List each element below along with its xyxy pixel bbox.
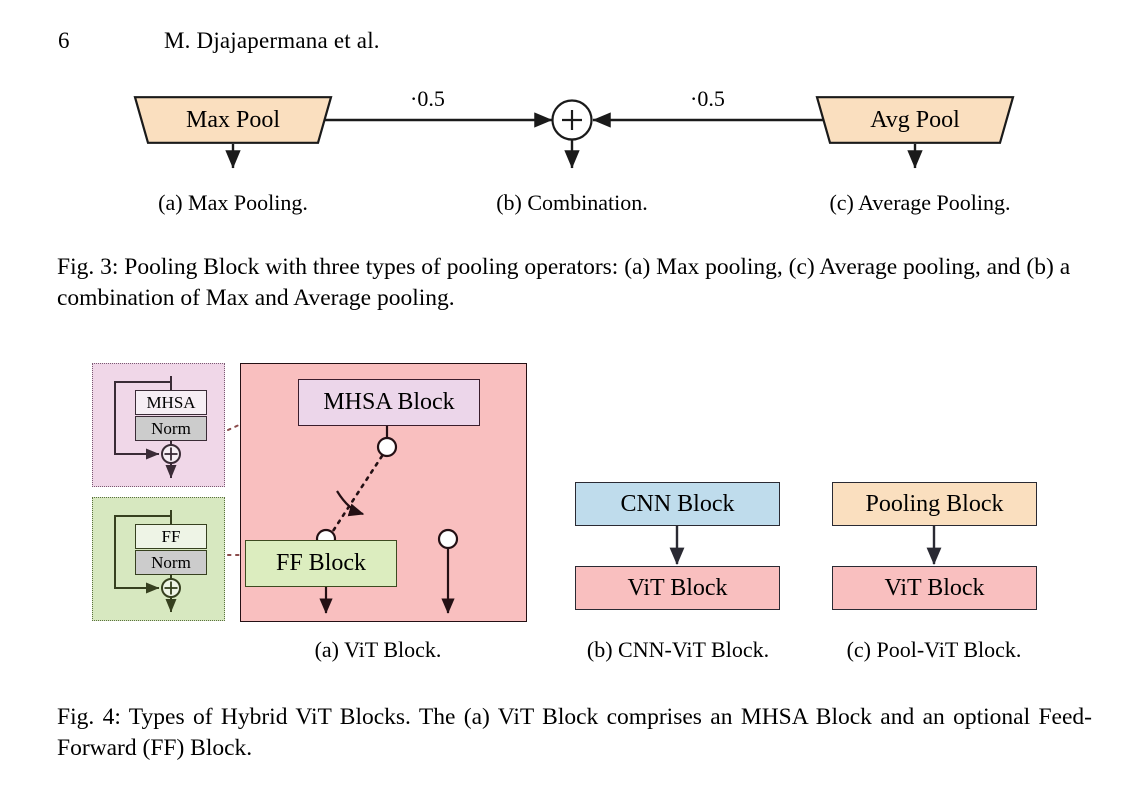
- edge-label-left: ·0.5: [410, 86, 445, 112]
- subcaption-average-pooling: (c) Average Pooling.: [795, 190, 1045, 216]
- mhsa-norm-box[interactable]: Norm: [135, 416, 207, 441]
- ff-operator-box[interactable]: FF: [135, 524, 207, 549]
- avg-pool-label: Avg Pool: [817, 96, 1013, 144]
- subcaption-combination: (b) Combination.: [472, 190, 672, 216]
- ff-norm-box[interactable]: Norm: [135, 550, 207, 575]
- mhsa-detail-panel: MHSA Norm: [92, 363, 225, 487]
- figure-4-caption: Fig. 4: Types of Hybrid ViT Blocks. The …: [57, 702, 1092, 764]
- subcaption-max-pooling: (a) Max Pooling.: [133, 190, 333, 216]
- subcaption-pool-vit-block: (c) Pool-ViT Block.: [812, 637, 1056, 663]
- edge-label-right: ·0.5: [690, 86, 725, 112]
- pool-vit-vit-block-node[interactable]: ViT Block: [832, 566, 1037, 610]
- mhsa-block-node[interactable]: MHSA Block: [298, 379, 480, 426]
- page-number: 6: [58, 28, 158, 54]
- subcaption-cnn-vit-block: (b) CNN-ViT Block.: [556, 637, 800, 663]
- ff-detail-panel: FF Norm: [92, 497, 225, 621]
- vit-block-panel: MHSA Block FF Block: [240, 363, 527, 622]
- page-header: 6 M. Djajapermana et al.: [58, 28, 380, 54]
- subcaption-vit-block: (a) ViT Block.: [228, 637, 528, 663]
- figure-3: Max Pool Avg Pool ·0.5 ·0.5 (a) Max Poo: [0, 80, 1148, 220]
- mhsa-operator-box[interactable]: MHSA: [135, 390, 207, 415]
- figure-3-caption: Fig. 3: Pooling Block with three types o…: [57, 252, 1092, 314]
- avg-pool-node[interactable]: Avg Pool: [817, 96, 1013, 144]
- cnn-vit-vit-block-node[interactable]: ViT Block: [575, 566, 780, 610]
- pooling-block-node[interactable]: Pooling Block: [832, 482, 1037, 526]
- ff-block-node[interactable]: FF Block: [245, 540, 397, 587]
- running-head-authors: M. Djajapermana et al.: [164, 28, 380, 53]
- figure-4: MHSA Norm FF Norm: [0, 355, 1148, 645]
- cnn-block-node[interactable]: CNN Block: [575, 482, 780, 526]
